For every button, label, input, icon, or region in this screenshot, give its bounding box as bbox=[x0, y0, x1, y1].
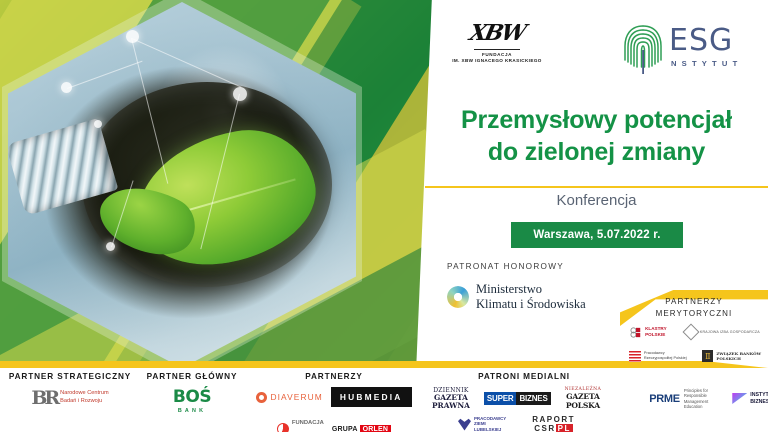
prme-line1: Principles for Responsible bbox=[684, 388, 708, 398]
ncbr-text: Narodowe Centrum Badań i Rozwoju bbox=[60, 390, 109, 405]
hubmedia-logo: HUBMEDIA bbox=[331, 387, 412, 407]
page-title: Przemysłowy potencjał do zielonej zmiany bbox=[425, 104, 768, 168]
media-logos-row-1: DZIENNIK GAZETA PRAWNA SUPER BIZNES NIEZ… bbox=[424, 387, 768, 410]
expert-partner-logos: KLASTRY POLSKIE KRAJOWA IZBA GOSPODARCZA… bbox=[621, 320, 768, 368]
title-line-2: do zielonej zmiany bbox=[425, 136, 768, 168]
expert-partners-label-line2: MERYTORYCZNI bbox=[620, 308, 768, 320]
bos-sub: BANK bbox=[178, 408, 206, 414]
partners-logos-row-2: FUNDACJA Energa GRUPA ORLEN bbox=[248, 411, 420, 432]
ministry-logo: Ministerstwo Klimatu i Środowiska bbox=[447, 282, 586, 313]
klastry-line2: POLSKIE bbox=[645, 332, 667, 338]
kig-text: KRAJOWA IZBA GOSPODARCZA bbox=[700, 330, 760, 334]
honorary-patronage: PATRONAT HONOROWY Ministerstwo Klimatu i… bbox=[447, 262, 586, 313]
strategic-partner-column: PARTNER STRATEGICZNY BR Narodowe Centrum… bbox=[4, 372, 136, 409]
main-partner-heading: PARTNER GŁÓWNY bbox=[140, 372, 244, 381]
orlen-grupa: GRUPA bbox=[332, 426, 358, 432]
patronage-label: PATRONAT HONOROWY bbox=[447, 262, 586, 271]
energa-text: FUNDACJA Energa bbox=[292, 411, 324, 432]
energa-swirl-icon bbox=[277, 423, 289, 432]
prme-logo: PRME Principles for Responsible Manageme… bbox=[649, 388, 708, 410]
ministry-name: Ministerstwo Klimatu i Środowiska bbox=[476, 282, 586, 313]
media-patrons-heading: PATRONI MEDIALNI bbox=[424, 372, 624, 381]
zbp-text: ZWIĄZEK BANKÓW POLSKICH bbox=[716, 351, 761, 361]
diaverum-logo: DIAVERUM bbox=[256, 392, 322, 403]
prc-line2: ZIEMI bbox=[474, 421, 486, 426]
date-location-badge: Warszawa, 5.07.2022 r. bbox=[511, 222, 683, 248]
pracodawcy-rp-logo: Pracodawcy Rzeczypospolitej Polskiej bbox=[629, 351, 687, 362]
ministry-line2: Klimatu i Środowiska bbox=[476, 297, 586, 312]
footer-partners-bar: PARTNER STRATEGICZNY BR Narodowe Centrum… bbox=[0, 368, 768, 432]
superbiznes-part1: SUPER bbox=[484, 392, 517, 405]
partners-column: PARTNERZY DIAVERUM HUBMEDIA FUNDACJA Ene… bbox=[248, 372, 420, 432]
energa-line1: FUNDACJA bbox=[292, 420, 324, 426]
diaverum-word: DIAVERUM bbox=[270, 392, 322, 402]
raport-csr: CSR bbox=[534, 424, 555, 432]
prc-line3: LUBELSKIEJ bbox=[474, 427, 501, 432]
superbiznes-logo: SUPER BIZNES bbox=[484, 392, 551, 405]
raport-line1: RAPORT bbox=[532, 415, 575, 424]
shield-icon bbox=[458, 418, 471, 431]
zbp-line2: POLSKICH bbox=[716, 356, 761, 361]
bank-emblem-icon: Ⅱ bbox=[702, 350, 713, 362]
raport-line2: CSRPL bbox=[532, 424, 575, 432]
partners-logos-row-1: DIAVERUM HUBMEDIA bbox=[248, 387, 420, 407]
foundation-logo: XBW FUNDACJA IM. XBW IGNACEGO KRASICKIEG… bbox=[437, 22, 557, 63]
content-column: XBW FUNDACJA IM. XBW IGNACEGO KRASICKIEG… bbox=[425, 0, 768, 368]
triangle-gradient-icon bbox=[732, 393, 747, 404]
esg-instytut-logo: ESG NSTYTUT bbox=[621, 18, 768, 80]
bos-bank-logo: BOŚ BANK bbox=[173, 387, 211, 414]
strategic-partner-logos: BR Narodowe Centrum Badań i Rozwoju bbox=[4, 387, 136, 409]
esg-wordmark: ESG NSTYTUT bbox=[669, 26, 742, 68]
ministry-line1: Ministerstwo bbox=[476, 282, 586, 297]
strategic-partner-heading: PARTNER STRATEGICZNY bbox=[4, 372, 136, 381]
klastry-polskie-logo: KLASTRY POLSKIE bbox=[630, 326, 667, 337]
fingerprint-tree-icon bbox=[621, 20, 665, 76]
diamond-icon bbox=[682, 324, 699, 341]
gp-line2: GAZETA POLSKA bbox=[565, 392, 602, 410]
hexagon-cluster-icon bbox=[630, 327, 642, 338]
orlen-name: ORLEN bbox=[360, 425, 392, 432]
prme-word: PRME bbox=[649, 393, 680, 405]
dziennik-gazeta-prawna-logo: DZIENNIK GAZETA PRAWNA bbox=[432, 388, 470, 410]
ncbr-line2: Badań i Rozwoju bbox=[60, 398, 102, 404]
expert-partners-label: PARTNERZY MERYTORYCZNI bbox=[620, 296, 768, 319]
yellow-divider-line bbox=[425, 186, 768, 188]
bos-word: BOŚ bbox=[173, 387, 211, 407]
pracodawcy-lubelskie-logo: PRACODAWCY ZIEMI LUBELSKIEJ bbox=[458, 416, 506, 432]
diaverum-dot-icon bbox=[256, 392, 267, 403]
media-logos-row-2: PRACODAWCY ZIEMI LUBELSKIEJ RAPORT CSRPL bbox=[424, 415, 768, 432]
ib-line2: BIZNESU bbox=[750, 399, 768, 405]
instytut-biznesu-logo: INSTYTUT BIZNESU bbox=[732, 392, 768, 405]
divider bbox=[474, 49, 520, 50]
fundacja-energa-logo: FUNDACJA Energa bbox=[277, 411, 324, 432]
gazeta-polska-logo: NIEZALEŻNA GAZETA POLSKA bbox=[565, 387, 602, 410]
foundation-logo-line1: FUNDACJA bbox=[437, 52, 557, 57]
raport-pl: PL bbox=[556, 424, 573, 432]
prme-line2: Management Education bbox=[684, 399, 708, 409]
prp-text: Pracodawcy Rzeczypospolitej Polskiej bbox=[644, 351, 687, 361]
main-partner-logos: BOŚ BANK bbox=[140, 387, 244, 414]
prp-line2: Rzeczypospolitej Polskiej bbox=[644, 356, 687, 361]
main-partner-column: PARTNER GŁÓWNY BOŚ BANK bbox=[140, 372, 244, 414]
red-stripes-icon bbox=[629, 351, 641, 362]
klastry-text: KLASTRY POLSKIE bbox=[645, 326, 667, 337]
grupa-orlen-logo: GRUPA ORLEN bbox=[332, 425, 391, 432]
krajowa-izba-gospodarcza-logo: KRAJOWA IZBA GOSPODARCZA bbox=[685, 326, 760, 338]
zwiazek-bankow-polskich-logo: Ⅱ ZWIĄZEK BANKÓW POLSKICH bbox=[702, 350, 761, 362]
esg-word: ESG bbox=[669, 26, 742, 56]
network-line bbox=[132, 38, 242, 88]
network-node bbox=[94, 120, 102, 128]
foundation-signature-icon: XBW bbox=[435, 22, 560, 44]
ib-text: INSTYTUT BIZNESU bbox=[750, 392, 768, 405]
esg-sub: NSTYTUT bbox=[669, 59, 742, 68]
subtitle: Konferencja bbox=[425, 192, 768, 209]
conference-poster: XBW FUNDACJA IM. XBW IGNACEGO KRASICKIEG… bbox=[0, 0, 768, 432]
media-patrons-column: PATRONI MEDIALNI DZIENNIK GAZETA PRAWNA … bbox=[424, 372, 768, 432]
ncbr-line1: Narodowe Centrum bbox=[60, 390, 109, 396]
prc-line1: PRACODAWCY bbox=[474, 416, 506, 421]
ncbr-logo: BR Narodowe Centrum Badań i Rozwoju bbox=[31, 387, 108, 409]
header-logos: XBW FUNDACJA IM. XBW IGNACEGO KRASICKIEG… bbox=[425, 18, 768, 80]
partners-heading: PARTNERZY bbox=[248, 372, 420, 381]
prc-text: PRACODAWCY ZIEMI LUBELSKIEJ bbox=[474, 416, 506, 432]
raport-csr-logo: RAPORT CSRPL bbox=[532, 415, 575, 432]
artwork-panel bbox=[0, 0, 435, 368]
superbiznes-part2: BIZNES bbox=[516, 392, 550, 405]
foundation-logo-line2: IM. XBW IGNACEGO KRASICKIEGO bbox=[437, 58, 557, 63]
ncbr-mark-icon: BR bbox=[31, 387, 57, 409]
title-line-1: Przemysłowy potencjał bbox=[425, 104, 768, 136]
network-line bbox=[67, 61, 143, 89]
prme-text: Principles for Responsible Management Ed… bbox=[684, 388, 708, 410]
ministry-swirl-icon bbox=[447, 286, 469, 308]
expert-partners-label-line1: PARTNERZY bbox=[620, 296, 768, 308]
expert-partner-row: Pracodawcy Rzeczypospolitej Polskiej Ⅱ Z… bbox=[621, 344, 768, 368]
network-node bbox=[233, 87, 247, 101]
expert-partner-row: KLASTRY POLSKIE KRAJOWA IZBA GOSPODARCZA bbox=[621, 320, 768, 344]
dgp-line2: GAZETA PRAWNA bbox=[432, 394, 470, 410]
ib-line1: INSTYTUT bbox=[750, 392, 768, 398]
